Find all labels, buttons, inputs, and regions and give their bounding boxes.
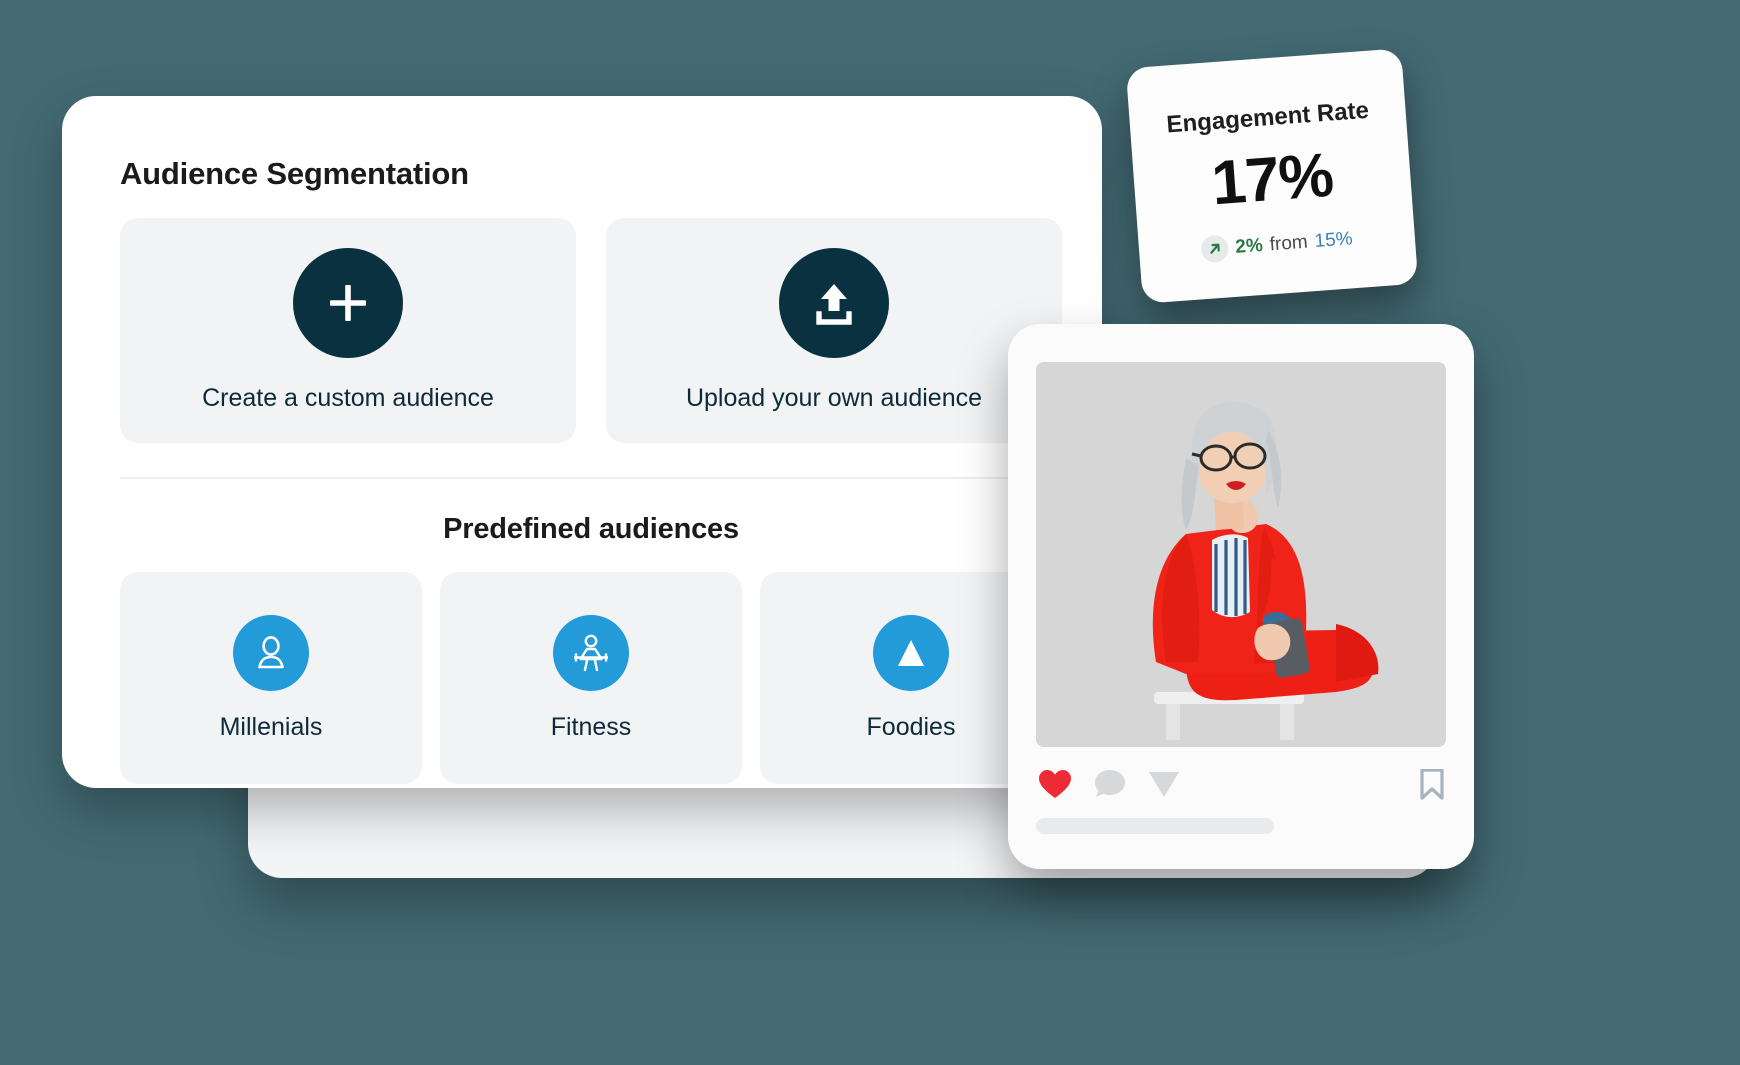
person-icon [233,615,309,691]
engagement-from-label: from [1269,231,1309,256]
audience-tile-fitness[interactable]: Fitness [440,572,742,784]
post-caption-placeholder [1036,818,1274,834]
create-custom-audience-tile[interactable]: Create a custom audience [120,218,576,443]
post-action-bar [1036,769,1446,800]
upload-audience-tile[interactable]: Upload your own audience [606,218,1062,443]
create-custom-audience-label: Create a custom audience [202,384,494,413]
arrow-up-right-icon [1200,234,1229,263]
audience-segmentation-card: Audience Segmentation Create a custom au… [62,96,1102,788]
audience-label-foodies: Foodies [867,713,956,742]
plus-icon [293,248,403,358]
engagement-delta-value: 2% [1235,234,1264,258]
comment-icon[interactable] [1094,769,1126,800]
engagement-delta: 2% from 15% [1200,225,1353,263]
share-icon[interactable] [1148,770,1180,799]
upload-icon [779,248,889,358]
action-tiles: Create a custom audience Upload your own… [120,218,1062,443]
engagement-rate-value: 17% [1209,140,1335,220]
upload-audience-label: Upload your own audience [686,384,982,413]
engagement-rate-card: Engagement Rate 17% 2% from 15% [1126,48,1419,304]
like-icon[interactable] [1038,769,1072,800]
predefined-audiences-title: Predefined audiences [120,513,1062,546]
bookmark-icon[interactable] [1420,769,1444,800]
audience-label-millenials: Millenials [220,713,323,742]
barbell-icon [553,615,629,691]
audience-label-fitness: Fitness [551,713,632,742]
engagement-rate-title: Engagement Rate [1166,97,1370,140]
predefined-audience-tiles: Millenials Fitness [120,572,1062,784]
cone-icon [873,615,949,691]
section-divider [120,477,1062,479]
post-image [1036,362,1446,747]
audience-tile-millenials[interactable]: Millenials [120,572,422,784]
canvas: Audience Segmentation Create a custom au… [0,0,1740,1065]
page-title: Audience Segmentation [120,156,1062,192]
social-post-card [1008,324,1474,869]
engagement-previous-value: 15% [1314,228,1354,253]
